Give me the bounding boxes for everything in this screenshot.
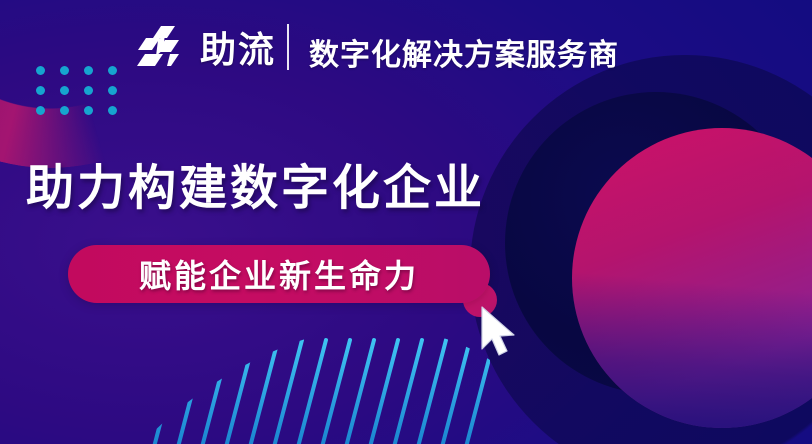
diagonal-line-fan-icon: [110, 320, 490, 444]
navy-circle-icon: [505, 92, 807, 394]
brand-lockup[interactable]: 助流: [134, 24, 276, 76]
brand-divider: [287, 24, 289, 70]
magenta-circle-icon: [572, 128, 812, 428]
banner-header: 助流 数字化解决方案服务商: [0, 0, 812, 100]
cta-pill-label: 赋能企业新生命力: [139, 251, 419, 297]
dark-swoosh-shape: [470, 55, 812, 444]
magenta-circle-fade-overlay: [572, 128, 812, 428]
brand-name: 助流: [200, 32, 276, 68]
cta-pill-button[interactable]: 赋能企业新生命力: [68, 245, 490, 303]
promo-banner: 助流 数字化解决方案服务商 助力构建数字化企业 赋能企业新生命力: [0, 0, 812, 444]
mouse-pointer-icon: [476, 305, 520, 361]
brand-tagline: 数字化解决方案服务商: [309, 30, 619, 74]
zhuliu-bolt-logo-icon: [134, 24, 186, 76]
headline-text: 助力构建数字化企业: [26, 148, 485, 218]
